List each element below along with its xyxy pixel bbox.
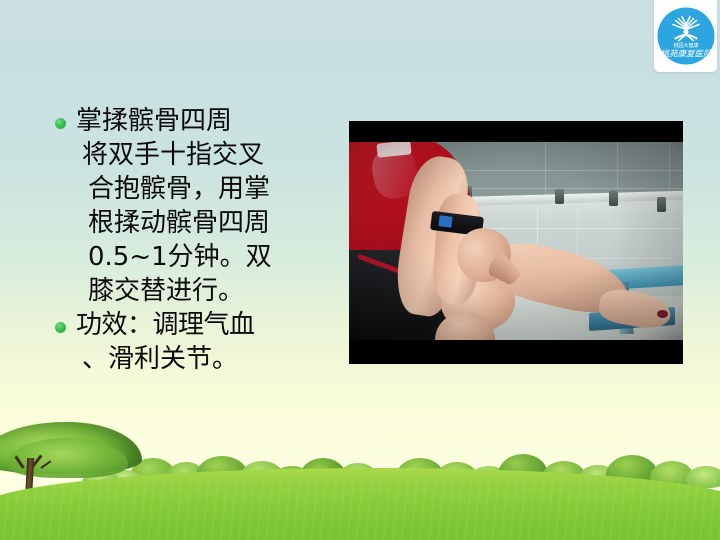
photo-image bbox=[349, 142, 683, 340]
bullet-2-line-1: 功效：调理气血 bbox=[76, 308, 338, 342]
bullet-1-line-2: 将双手十指交叉 bbox=[82, 138, 338, 172]
bullet-1-line-3: 合抱髌骨，用掌 bbox=[88, 172, 338, 206]
slide-canvas: 桃园大健康 桃苑康复医院 bbox=[0, 0, 720, 540]
bullet-dot-icon bbox=[55, 322, 66, 333]
bullet-1-line-6: 膝交替进行。 bbox=[88, 274, 338, 308]
photo-vignette bbox=[349, 142, 683, 340]
landscape-decoration bbox=[0, 395, 720, 540]
knee-massage-photo bbox=[349, 121, 683, 364]
logo-circle-icon: 桃园大健康 桃苑康复医院 bbox=[657, 8, 714, 65]
bullet-dot-icon bbox=[55, 118, 66, 129]
logo-clinic-name: 桃苑康复医院 bbox=[660, 49, 713, 60]
clinic-logo[interactable]: 桃园大健康 桃苑康复医院 bbox=[654, 0, 717, 72]
bullet-1-line-4: 根揉动髌骨四周 bbox=[88, 206, 338, 240]
grass-texture bbox=[0, 478, 720, 540]
bullet-1-line-1: 掌揉髌骨四周 bbox=[76, 104, 338, 138]
slide-body-text: 掌揉髌骨四周 将双手十指交叉 合抱髌骨，用掌 根揉动髌骨四周 0.5~1分钟。双… bbox=[52, 104, 338, 376]
bullet-1-line-5: 0.5~1分钟。双 bbox=[88, 240, 338, 274]
logo-tagline: 桃园大健康 bbox=[673, 42, 698, 49]
bullet-item-1: 掌揉髌骨四周 将双手十指交叉 合抱髌骨，用掌 根揉动髌骨四周 0.5~1分钟。双… bbox=[52, 104, 338, 308]
bullet-item-2: 功效：调理气血 、滑利关节。 bbox=[52, 308, 338, 376]
bullet-2-line-2: 、滑利关节。 bbox=[82, 342, 338, 376]
